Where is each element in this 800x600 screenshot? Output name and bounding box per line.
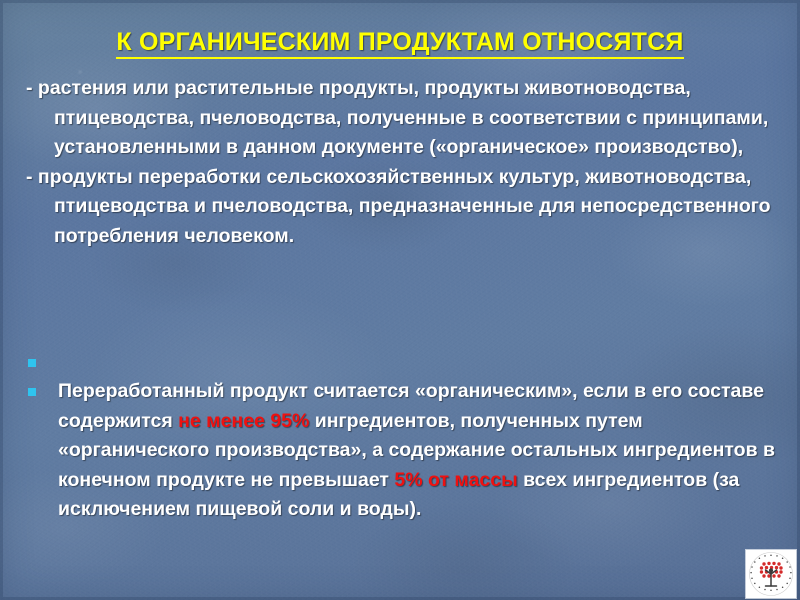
slide-content: К ОРГАНИЧЕСКИМ ПРОДУКТАМ ОТНОСЯТСЯ - рас… (0, 0, 800, 600)
dash-list-item: - растения или растительные продукты, пр… (26, 74, 774, 163)
dash-item-text: продукты переработки сельскохозяйственны… (38, 166, 771, 247)
page-title-text: К ОРГАНИЧЕСКИМ ПРОДУКТАМ ОТНОСЯТСЯ (116, 28, 683, 59)
square-bullet-icon (28, 359, 36, 367)
square-bullet-icon (28, 388, 36, 396)
list-item: Переработанный продукт считается «органи… (26, 377, 778, 525)
bullet-item-text: Переработанный продукт считается «органи… (58, 380, 775, 520)
dash-list-item: - продукты переработки сельскохозяйствен… (26, 163, 774, 252)
highlight-5-percent-mass: 5% от массы (394, 469, 517, 491)
dash-item-text: растения или растительные продукты, прод… (38, 77, 768, 158)
slide-canvas: К ОРГАНИЧЕСКИМ ПРОДУКТАМ ОТНОСЯТСЯ - рас… (0, 0, 800, 600)
highlight-95-percent: не менее 95% (178, 410, 309, 432)
dash-list: - растения или растительные продукты, пр… (26, 74, 774, 251)
dash-marker: - (26, 166, 33, 188)
institute-seal-logo (746, 550, 796, 598)
page-title: К ОРГАНИЧЕСКИМ ПРОДУКТАМ ОТНОСЯТСЯ (0, 28, 800, 57)
dash-marker: - (26, 77, 33, 99)
bullet-list: Переработанный продукт считается «органи… (26, 352, 778, 525)
list-item (26, 352, 778, 377)
